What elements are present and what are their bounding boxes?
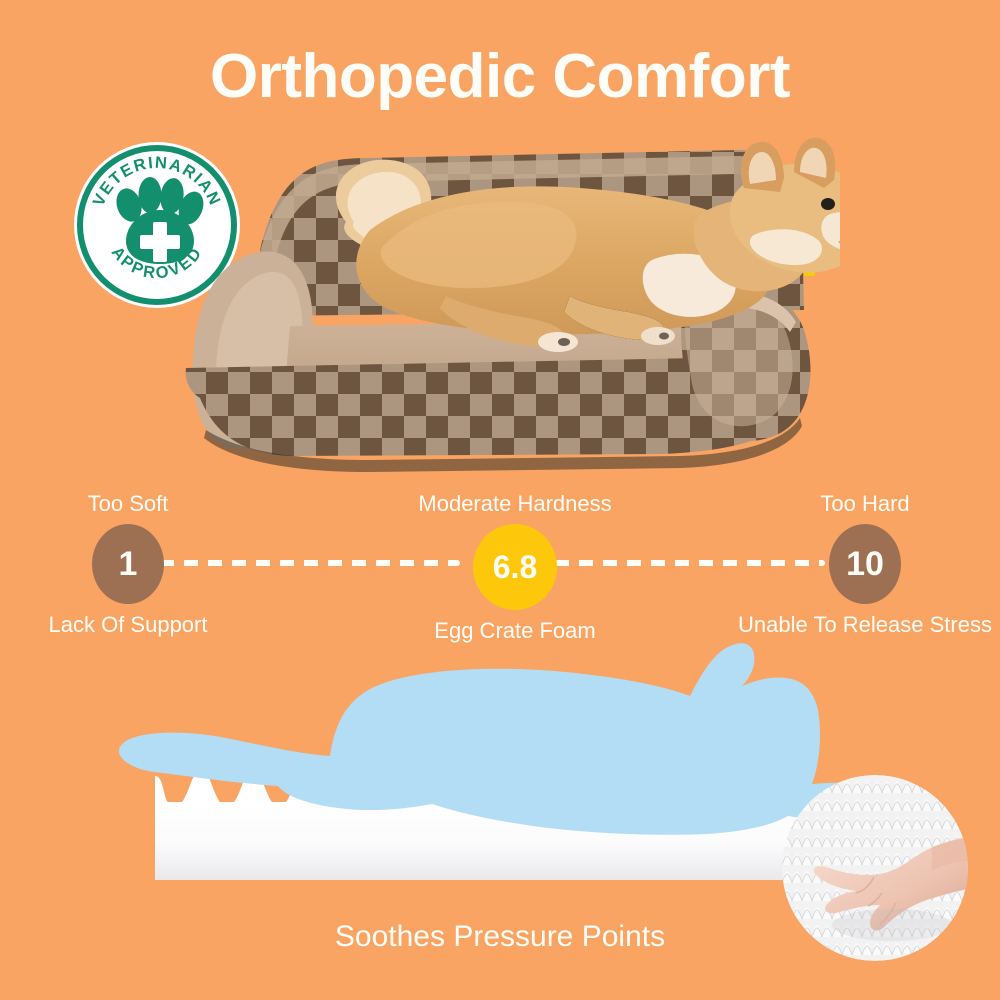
scale-top-label-1: Too Soft [0,492,258,518]
scale-value-bubble-2: 6.8 [473,524,557,610]
foam-caption: Soothes Pressure Points [0,920,1000,954]
scale-value-bubble-3: 10 [829,524,901,604]
scale-top-label-3: Too Hard [735,492,995,518]
infographic-canvas: Orthopedic Comfort VET [0,0,1000,1000]
dog-on-orthopedic-bed-photo [140,130,840,490]
scale-node-too-hard: Too Hard 10 Unable To Release Stress [735,492,995,637]
scale-node-too-soft: Too Soft 1 Lack Of Support [0,492,258,637]
scale-top-label-2: Moderate Hardness [385,492,645,518]
page-title: Orthopedic Comfort [0,46,1000,108]
scale-value-bubble-1: 1 [92,524,164,604]
scale-node-moderate-hardness: Moderate Hardness 6.8 Egg Crate Foam [385,492,645,643]
